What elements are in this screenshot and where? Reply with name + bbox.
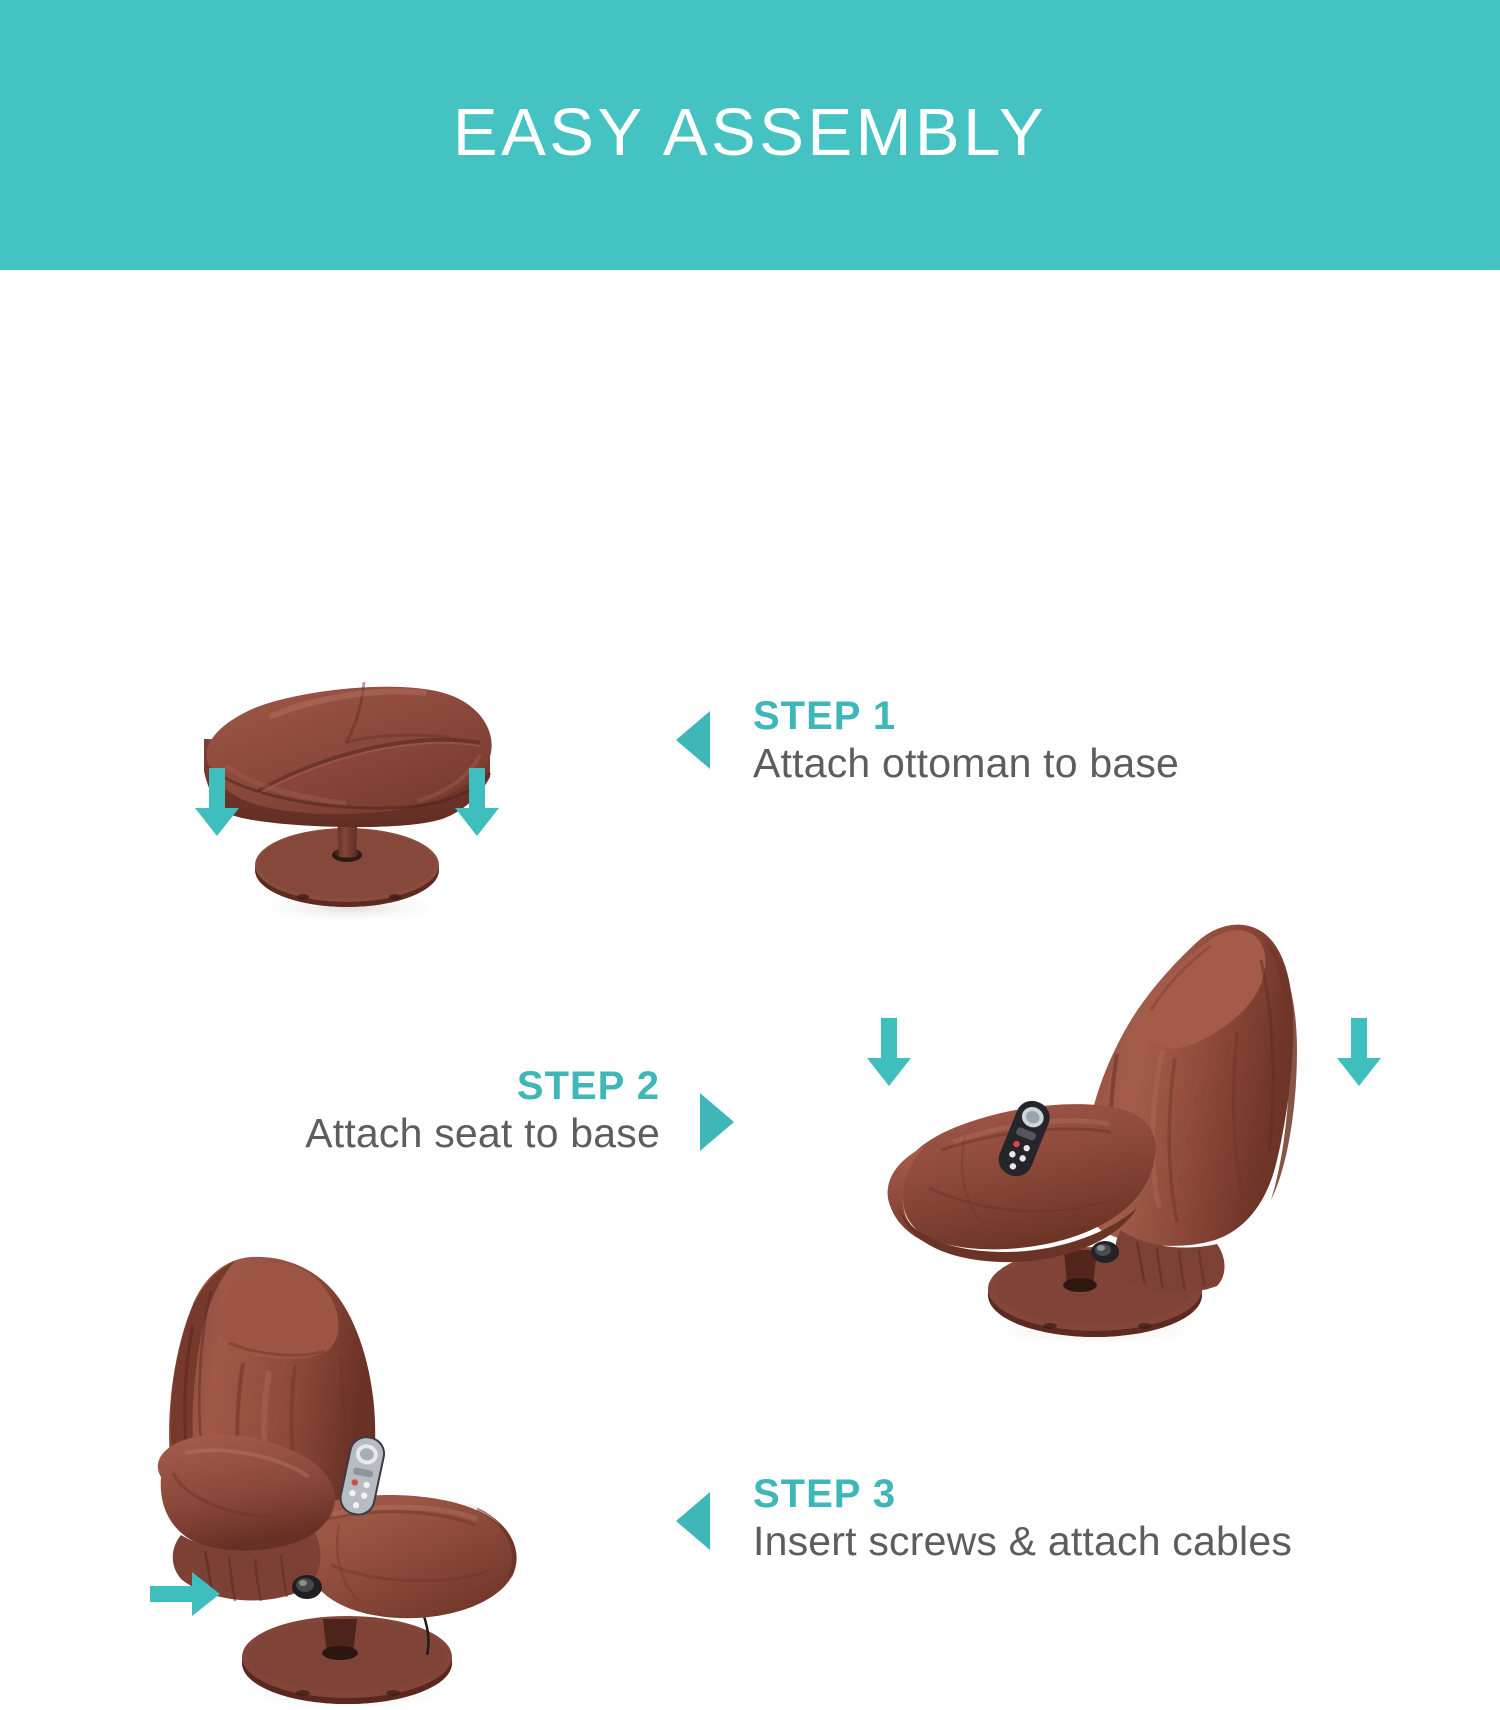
step-2-label: STEP 2 — [0, 1065, 660, 1108]
page-title: EASY ASSEMBLY — [453, 99, 1047, 172]
step-3-text-block: STEP 3 Insert screws & attach cables — [753, 1473, 1292, 1566]
upright-chair-product-image — [125, 1215, 595, 1710]
step-1-text-block: STEP 1 Attach ottoman to base — [753, 695, 1179, 788]
arrow-down-icon — [453, 768, 501, 838]
arrow-down-icon — [193, 768, 241, 838]
arrow-down-icon — [1335, 1018, 1383, 1088]
triangle-left-icon — [676, 711, 710, 769]
step-2-description: Attach seat to base — [0, 1108, 660, 1158]
triangle-left-icon — [676, 1492, 710, 1550]
header-banner: EASY ASSEMBLY — [0, 0, 1500, 270]
step-2-text-block: STEP 2 Attach seat to base — [0, 1065, 660, 1158]
step-3-label: STEP 3 — [753, 1473, 1292, 1516]
reclined-chair-product-image — [845, 900, 1415, 1360]
step-1-label: STEP 1 — [753, 695, 1179, 738]
step-3-description: Insert screws & attach cables — [753, 1516, 1292, 1566]
arrow-down-icon — [865, 1018, 913, 1088]
arrow-right-icon — [150, 1570, 222, 1618]
step-1-description: Attach ottoman to base — [753, 738, 1179, 788]
triangle-right-icon — [700, 1093, 734, 1151]
content-stage: STEP 1 Attach ottoman to base — [0, 270, 1500, 1443]
